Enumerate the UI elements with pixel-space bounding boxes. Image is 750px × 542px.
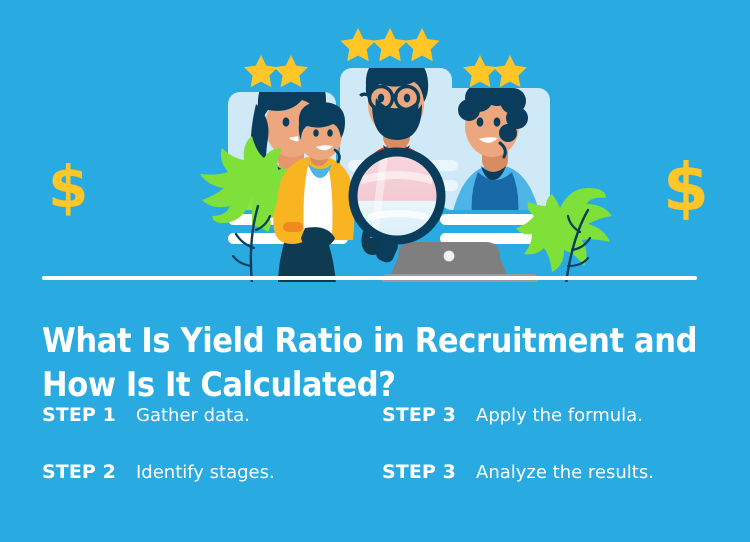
svg-text:$: $ <box>48 153 88 221</box>
candidate-card-right <box>440 76 550 215</box>
dollar-sign-right: $ <box>663 149 709 226</box>
page-title: What Is Yield Ratio in Recruitment and H… <box>42 319 714 407</box>
step-item: STEP 3 Apply the formula. <box>382 404 722 426</box>
step-label: STEP 3 <box>382 404 476 426</box>
steps-list: STEP 1 Gather data. STEP 3 Apply the for… <box>42 404 714 518</box>
hero-illustration: $ $ <box>0 0 750 280</box>
step-item: STEP 1 Gather data. <box>42 404 382 426</box>
step-item: STEP 3 Analyze the results. <box>382 461 722 483</box>
step-text: Analyze the results. <box>476 462 654 483</box>
step-text: Gather data. <box>136 405 250 426</box>
svg-text:$: $ <box>663 149 709 226</box>
step-label: STEP 2 <box>42 461 136 483</box>
step-label: STEP 1 <box>42 404 136 426</box>
infographic-banner: $ $ <box>0 0 750 542</box>
step-item: STEP 2 Identify stages. <box>42 461 382 483</box>
title-divider <box>42 276 697 280</box>
step-text: Apply the formula. <box>476 405 643 426</box>
dollar-sign-left: $ <box>48 153 88 221</box>
step-label: STEP 3 <box>382 461 476 483</box>
step-text: Identify stages. <box>136 462 275 483</box>
